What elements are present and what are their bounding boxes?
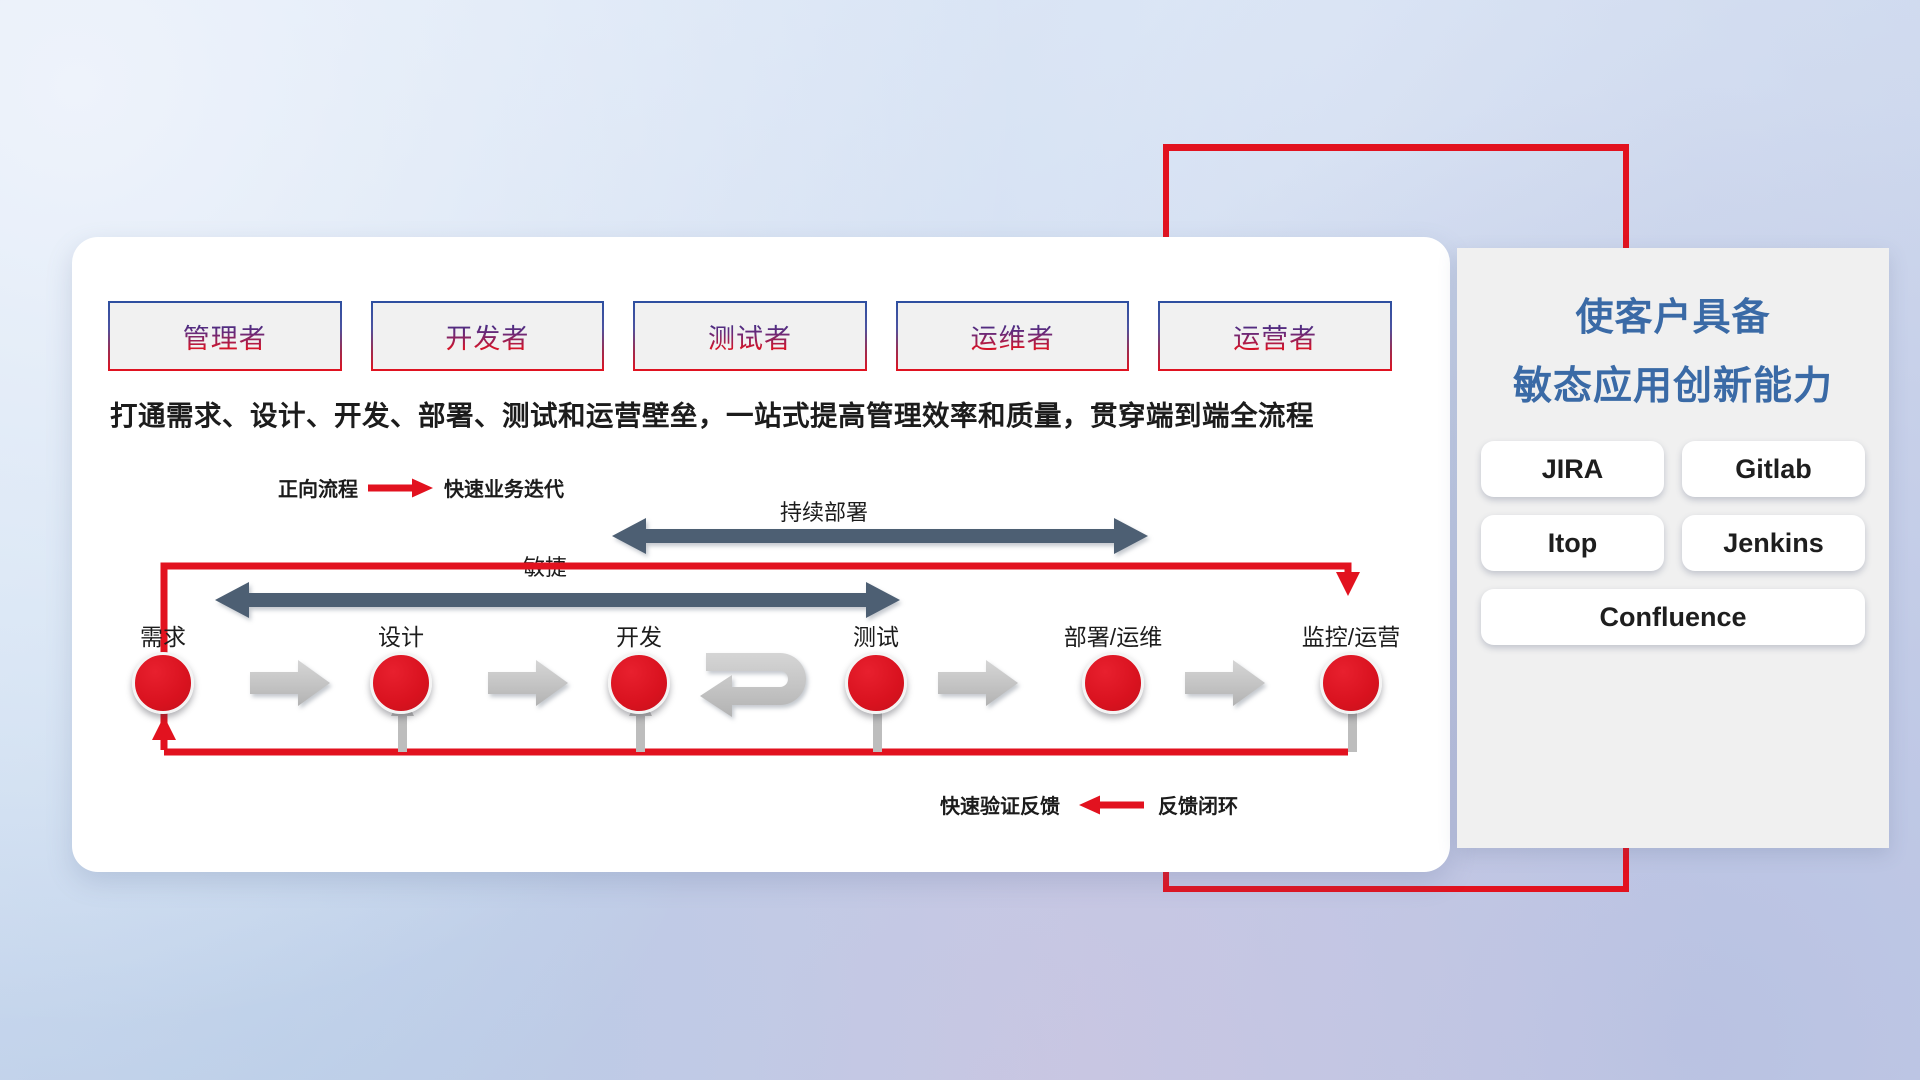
stage-dot bbox=[370, 652, 432, 714]
span-label-continuous-deployment: 持续部署 bbox=[780, 495, 868, 527]
tool-chip-jenkins[interactable]: Jenkins bbox=[1682, 515, 1865, 571]
arrow-left-red-icon bbox=[1074, 795, 1144, 815]
stage-dot bbox=[608, 652, 670, 714]
legend-feedback-loop: 快速验证反馈 反馈闭环 bbox=[940, 790, 1238, 819]
role-box-tester[interactable]: 测试者 bbox=[635, 303, 865, 369]
role-box-operations[interactable]: 运营者 bbox=[1160, 303, 1390, 369]
value-panel: 使客户具备 敏态应用创新能力 JIRA Gitlab Itop Jenkins … bbox=[1457, 248, 1889, 848]
legend-forward-right-label: 快速业务迭代 bbox=[444, 473, 564, 502]
tool-chip-confluence[interactable]: Confluence bbox=[1481, 589, 1865, 645]
stage-node-deploy-ops[interactable]: 部署/运维 bbox=[1082, 652, 1144, 714]
stage-dot bbox=[845, 652, 907, 714]
panel-heading-line-2: 敏态应用创新能力 bbox=[1457, 355, 1889, 411]
stage-label: 设计 bbox=[378, 618, 424, 652]
tool-chip-jira[interactable]: JIRA bbox=[1481, 441, 1664, 497]
tool-chip-itop[interactable]: Itop bbox=[1481, 515, 1664, 571]
stage-dot bbox=[1082, 652, 1144, 714]
stage-node-development[interactable]: 开发 bbox=[608, 652, 670, 714]
role-label: 管理者 bbox=[183, 317, 267, 356]
tool-chip-grid: JIRA Gitlab Itop Jenkins Confluence bbox=[1481, 441, 1865, 645]
stage-dot bbox=[1320, 652, 1382, 714]
legend-forward-flow: 正向流程 快速业务迭代 bbox=[278, 473, 564, 502]
stage-label: 监控/运营 bbox=[1302, 618, 1400, 652]
stage-label: 测试 bbox=[853, 618, 899, 652]
stage-node-requirement[interactable]: 需求 bbox=[132, 652, 194, 714]
role-label: 运维者 bbox=[971, 317, 1055, 356]
role-box-developer[interactable]: 开发者 bbox=[373, 303, 603, 369]
legend-forward-left-label: 正向流程 bbox=[278, 473, 358, 502]
stage-label: 开发 bbox=[616, 618, 662, 652]
role-boxes-row: 管理者 开发者 测试者 运维者 运营者 bbox=[110, 303, 1390, 369]
stage-node-testing[interactable]: 测试 bbox=[845, 652, 907, 714]
arrow-right-red-icon bbox=[368, 478, 434, 498]
panel-heading-line-1: 使客户具备 bbox=[1457, 286, 1889, 341]
stage-dot bbox=[132, 652, 194, 714]
stage-node-monitor-operations[interactable]: 监控/运营 bbox=[1320, 652, 1382, 714]
role-box-ops[interactable]: 运维者 bbox=[898, 303, 1128, 369]
stage-label: 需求 bbox=[140, 618, 186, 652]
tool-chip-gitlab[interactable]: Gitlab bbox=[1682, 441, 1865, 497]
role-box-manager[interactable]: 管理者 bbox=[110, 303, 340, 369]
role-label: 测试者 bbox=[708, 317, 792, 356]
role-label: 开发者 bbox=[445, 317, 529, 356]
legend-feedback-left-label: 快速验证反馈 bbox=[940, 790, 1060, 819]
legend-feedback-right-label: 反馈闭环 bbox=[1158, 790, 1238, 819]
headline-text: 打通需求、设计、开发、部署、测试和运营壁垒，一站式提高管理效率和质量，贯穿端到端… bbox=[110, 393, 1420, 433]
stage-label: 部署/运维 bbox=[1064, 618, 1162, 652]
span-label-agile: 敏捷 bbox=[523, 550, 567, 582]
role-label: 运营者 bbox=[1233, 317, 1317, 356]
stage-node-design[interactable]: 设计 bbox=[370, 652, 432, 714]
